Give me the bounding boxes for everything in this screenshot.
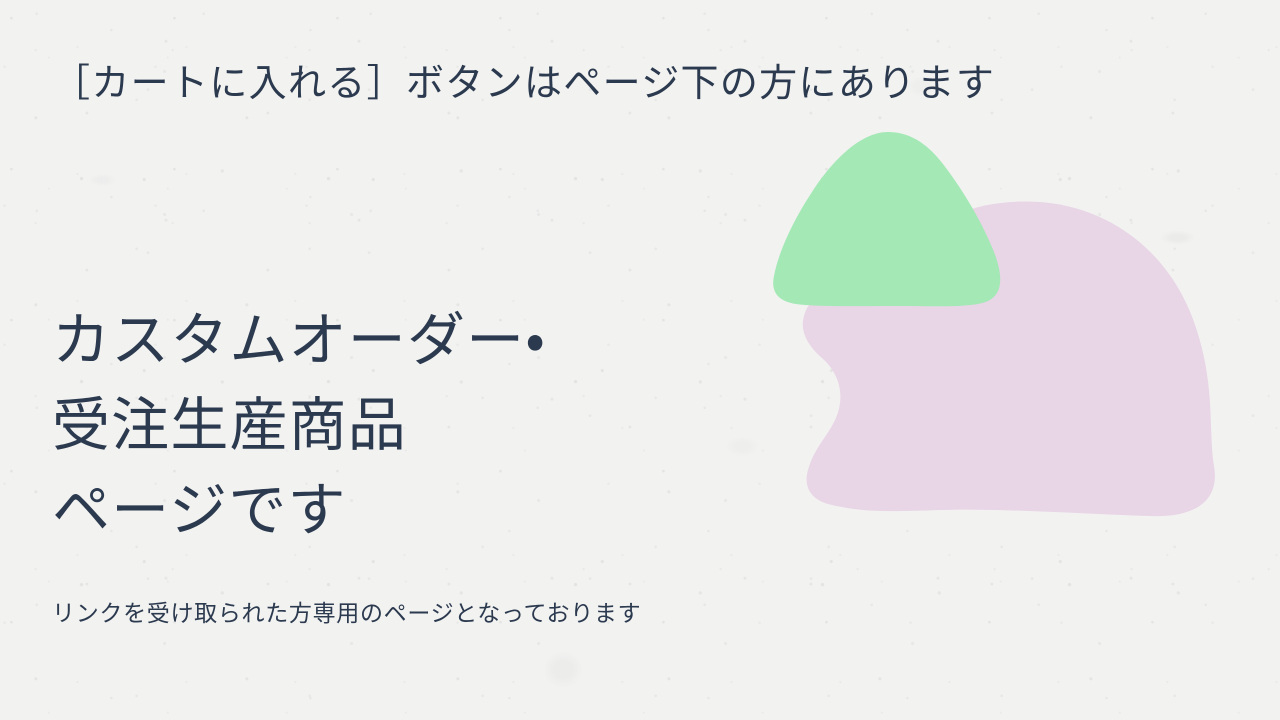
banner-content: ［カートに入れる］ボタンはページ下の方にあります カスタムオーダー・ 受注生産商… [0, 0, 1280, 720]
page-title-line-3: ページです [52, 468, 546, 553]
page-title: カスタムオーダー・ 受注生産商品 ページです [52, 298, 546, 553]
promo-banner: ［カートに入れる］ボタンはページ下の方にあります カスタムオーダー・ 受注生産商… [0, 0, 1280, 720]
page-title-line-2: 受注生産商品 [52, 383, 546, 468]
cart-button-notice: ［カートに入れる］ボタンはページ下の方にあります [52, 52, 995, 107]
page-title-line-1: カスタムオーダー・ [52, 298, 546, 383]
access-note: リンクを受け取られた方専用のページとなっております [52, 594, 641, 628]
